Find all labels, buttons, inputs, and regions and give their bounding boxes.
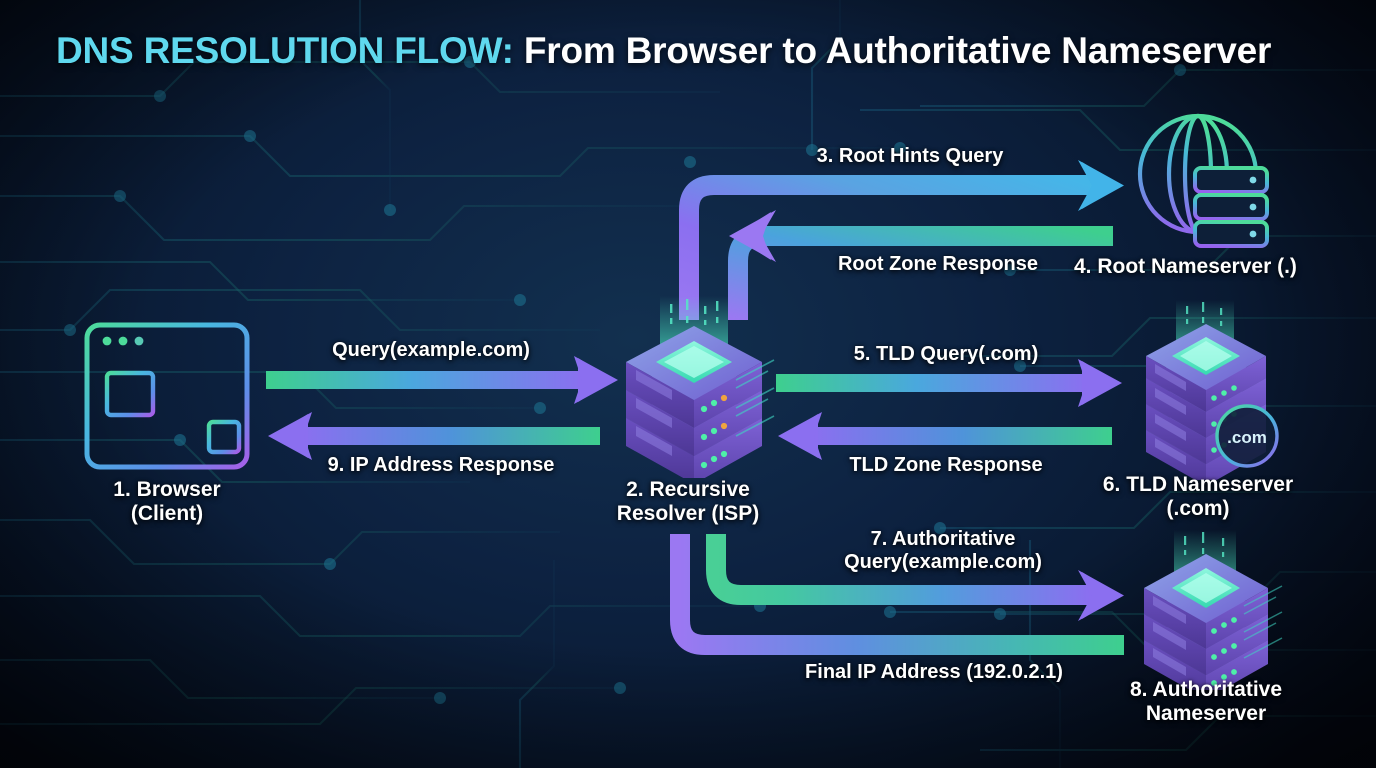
- flow-label-final-ip: Final IP Address (192.0.2.1): [805, 661, 1063, 684]
- node-resolver-label: 2. Recursive Resolver (ISP): [617, 478, 759, 527]
- tld-badge-text: .com: [1227, 428, 1267, 447]
- tld-label-line1: 6. TLD Nameserver: [1103, 473, 1293, 497]
- node-root-label: 4. Root Nameserver (.): [1074, 255, 1297, 279]
- globe-server-icon: [1132, 108, 1272, 248]
- diagram-canvas: DNS RESOLUTION FLOW: From Browser to Aut…: [0, 0, 1376, 768]
- node-tld-label: 6. TLD Nameserver (.com): [1103, 473, 1293, 522]
- flow-label-auth-query: 7. Authoritative Query(example.com): [844, 528, 1042, 574]
- tld-com-badge: .com: [1213, 402, 1281, 470]
- auth-query-line1: 7. Authoritative: [844, 528, 1042, 551]
- node-root-nameserver[interactable]: [1132, 108, 1272, 253]
- flow-label-root-query: 3. Root Hints Query: [817, 145, 1004, 168]
- node-browser-label: 1. Browser (Client): [113, 478, 220, 527]
- browser-label-line1: 1. Browser: [113, 478, 220, 502]
- auth-query-line2: Query(example.com): [844, 551, 1042, 574]
- auth-label-line1: 8. Authoritative: [1130, 678, 1282, 702]
- tld-label-line2: (.com): [1103, 497, 1293, 521]
- server-stack-icon: [1128, 530, 1288, 690]
- node-tld-nameserver[interactable]: .com: [1134, 300, 1284, 485]
- flow-label-root-response: Root Zone Response: [838, 253, 1038, 276]
- root-label-line1: 4. Root Nameserver (.): [1074, 255, 1297, 279]
- flow-label-tld-response: TLD Zone Response: [849, 454, 1042, 477]
- browser-label-line2: (Client): [113, 502, 220, 526]
- resolver-label-line1: 2. Recursive: [617, 478, 759, 502]
- node-browser[interactable]: [84, 322, 250, 475]
- flow-arrow-tld-query: [776, 359, 1122, 407]
- flow-arrow-tld-response: [778, 412, 1112, 460]
- node-recursive-resolver[interactable]: [612, 296, 778, 483]
- flow-label-browser-query: Query(example.com): [332, 339, 530, 362]
- flow-label-tld-query: 5. TLD Query(.com): [854, 343, 1038, 366]
- flow-label-ip-response: 9. IP Address Response: [328, 454, 555, 477]
- auth-label-line2: Nameserver: [1130, 702, 1282, 726]
- flow-arrow-ip-response: [268, 412, 600, 460]
- node-authoritative-label: 8. Authoritative Nameserver: [1130, 678, 1282, 727]
- node-authoritative-nameserver[interactable]: [1128, 530, 1288, 695]
- resolver-label-line2: Resolver (ISP): [617, 502, 759, 526]
- server-stack-icon: [612, 296, 778, 478]
- browser-window-icon: [84, 322, 250, 470]
- flow-arrow-browser-query: [266, 356, 618, 404]
